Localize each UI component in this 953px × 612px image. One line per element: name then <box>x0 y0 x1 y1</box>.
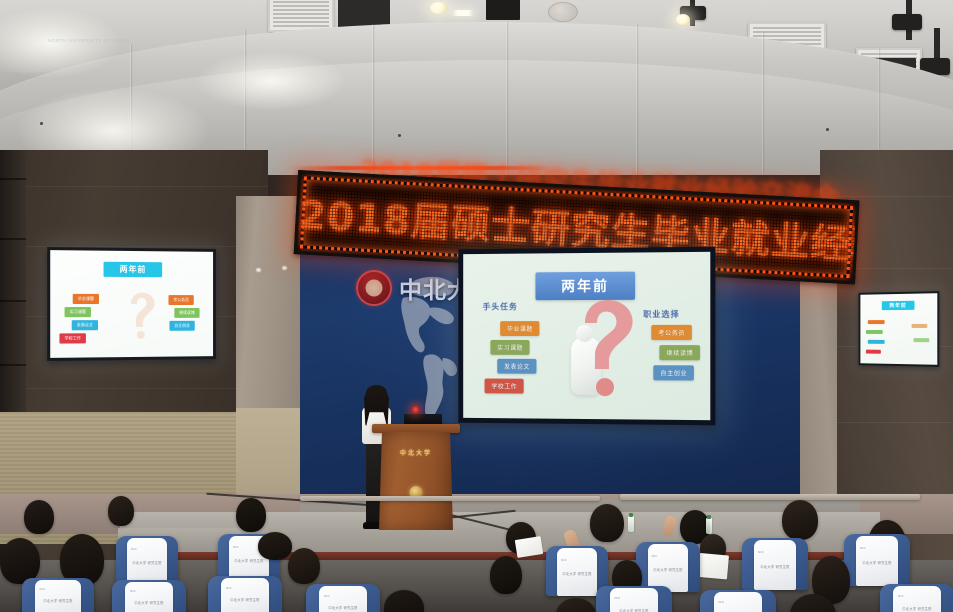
audience-seat[interactable]: NUC 中北大学 研究生院 <box>880 584 953 612</box>
side-monitor-right-screen: 两年前 <box>860 293 937 365</box>
audience-seat[interactable]: NUC 中北大学 研究生院 <box>596 586 672 612</box>
ceiling-seam <box>506 22 507 174</box>
audience-head <box>236 498 266 532</box>
ceiling-recess <box>486 0 520 20</box>
seat-text: 中北大学 研究生院 <box>893 606 940 611</box>
audience-seat[interactable]: NUC 中北大学 研究生院 <box>116 536 178 584</box>
seat-headrest-cover: NUC 中北大学 研究生院 <box>893 586 940 612</box>
tube-light-icon <box>452 10 474 16</box>
audience-head <box>258 532 292 560</box>
slide-canvas: 两年前 手头任务 职业选择 毕业课题 实习课题 发表论文 学校工作 考公务员 继… <box>463 252 710 420</box>
university-name-en: NORTH UNIVERSITY OF CHINA <box>48 38 130 43</box>
monitor-left-chip-2: 发表论文 <box>72 320 98 330</box>
seat-headrest-cover: NUC 中北大学 研究生院 <box>125 582 172 612</box>
audience-seat[interactable]: NUC 中北大学 研究生院 <box>700 590 776 612</box>
seat-logo: NUC <box>561 559 567 562</box>
seat-logo: NUC <box>615 597 621 600</box>
slide-right-heading: 职业选择 <box>643 309 679 320</box>
monitor-r-chip-b <box>866 330 883 334</box>
audience-head <box>556 598 596 612</box>
slide-chip-left-3: 学校工作 <box>485 379 525 394</box>
audience-head <box>490 556 522 594</box>
monitor-r-chip-a <box>868 320 885 324</box>
slide-chip-left-2: 发表论文 <box>497 359 537 374</box>
audience-seat[interactable]: NUC 中北大学 研究生院 <box>208 576 282 612</box>
seat-logo: NUC <box>860 547 866 550</box>
seat-logo: NUC <box>131 548 137 551</box>
side-monitor-left-screen: 两年前 毕业课题 实习课题 发表论文 学校工作 考公务员 继续读博 自主创业 <box>50 250 213 358</box>
audience-seat[interactable]: NUC 中北大学 研究生院 <box>636 542 700 592</box>
seat-logo: NUC <box>40 588 46 591</box>
monitor-right-chip-2: 自主创业 <box>169 321 194 331</box>
seat-headrest-cover: NUC 中北大学 研究生院 <box>221 578 268 612</box>
audience-head <box>288 548 320 584</box>
aisle-rail <box>300 496 600 501</box>
seat-headrest-cover: NUC 中北大学 研究生院 <box>714 592 763 612</box>
audience-seat[interactable]: NUC 中北大学 研究生院 <box>22 578 94 612</box>
audience-seat[interactable]: NUC 中北大学 研究生院 <box>742 538 808 590</box>
projection-screen: 两年前 手头任务 职业选择 毕业课题 实习课题 发表论文 学校工作 考公务员 继… <box>458 247 715 426</box>
seat-text: 中北大学 研究生院 <box>35 598 81 603</box>
monitor-right-title: 两年前 <box>882 301 915 310</box>
audience-seat[interactable]: NUC 中北大学 研究生院 <box>112 580 186 612</box>
water-bottle <box>706 518 712 534</box>
seat-headrest-cover: NUC 中北大学 研究生院 <box>856 536 898 586</box>
monitor-r-chip-d <box>866 350 881 354</box>
seat-headrest-cover: NUC 中北大学 研究生院 <box>127 538 167 584</box>
audience-head <box>590 504 624 542</box>
audience-area: NUC 中北大学 研究生院 NUC 中北大学 研究生院 NUC 中北大学 研究生… <box>0 494 953 612</box>
ceiling-speaker-icon <box>548 2 578 22</box>
seat-headrest-cover: NUC 中北大学 研究生院 <box>754 540 796 590</box>
seat-logo: NUC <box>130 590 136 593</box>
monitor-right-chip-1: 继续读博 <box>174 308 199 318</box>
slide-chip-right-1: 继续读博 <box>659 345 700 360</box>
seat-headrest-cover: NUC 中北大学 研究生院 <box>35 580 81 612</box>
ceiling <box>0 0 953 175</box>
monitor-left-chip-3: 学校工作 <box>59 333 85 343</box>
audience-head <box>108 496 134 526</box>
seat-text: 中北大学 研究生院 <box>610 608 659 612</box>
slide-left-heading: 手头任务 <box>483 301 518 312</box>
university-seal-icon <box>356 270 392 306</box>
seat-text: 中北大学 研究生院 <box>557 571 597 576</box>
ceiling-seam <box>372 24 373 174</box>
seat-text: 中北大学 研究生院 <box>856 560 898 565</box>
seat-headrest-cover: NUC 中北大学 研究生院 <box>557 548 597 596</box>
question-mark-graphic <box>565 293 647 404</box>
seat-logo: NUC <box>233 546 239 549</box>
slide-chip-left-1: 实习课题 <box>490 340 530 355</box>
spotlight-icon <box>892 14 922 30</box>
microphone-indicator-icon <box>412 406 419 413</box>
side-monitor-right: 两年前 <box>859 291 940 367</box>
audience-head <box>384 590 424 612</box>
ceiling-seam <box>762 32 763 174</box>
downlight-icon <box>430 2 447 14</box>
seat-logo: NUC <box>652 555 658 558</box>
seat-text: 中北大学 研究生院 <box>127 560 167 565</box>
led-ceiling-reflection <box>290 166 550 170</box>
ceiling-seam <box>636 24 637 174</box>
monitor-r-chip-c <box>868 340 885 344</box>
slide-chip-right-2: 自主创业 <box>653 365 694 380</box>
monitor-question-mark-icon <box>121 289 161 339</box>
audience-seat[interactable]: NUC 中北大学 研究生院 <box>306 584 380 612</box>
auditorium-scene: 中北大学 NORTH UNIVERSITY OF CHINA 2018届硕士研究… <box>0 0 953 612</box>
monitor-left-chip-1: 实习课题 <box>65 307 91 317</box>
ceiling-fitting <box>398 134 401 137</box>
slide-chip-right-0: 考公务员 <box>651 325 692 340</box>
monitor-r-chip-e <box>912 324 928 328</box>
audience-head <box>24 500 54 534</box>
monitor-right-chip-0: 考公务员 <box>168 295 193 305</box>
seat-text: 中北大学 研究生院 <box>648 567 689 572</box>
podium-top <box>372 424 460 433</box>
seat-headrest-cover: NUC 中北大学 研究生院 <box>319 586 366 612</box>
seat-logo: NUC <box>719 601 725 604</box>
seat-text: 中北大学 研究生院 <box>319 605 366 610</box>
monitor-left-title: 两年前 <box>104 262 163 277</box>
seat-text: 中北大学 研究生院 <box>229 558 269 563</box>
seat-text: 中北大学 研究生院 <box>754 564 796 569</box>
audience-head <box>782 500 818 540</box>
slide-chip-left-0: 毕业课题 <box>500 321 540 336</box>
ceiling-fitting <box>40 122 43 125</box>
downlight-icon <box>676 14 690 25</box>
audience-seat[interactable]: NUC 中北大学 研究生院 <box>844 534 910 586</box>
audience-arm <box>661 515 677 537</box>
ceiling-fitting <box>826 128 829 131</box>
seat-logo: NUC <box>898 595 904 598</box>
seat-text: 中北大学 研究生院 <box>221 597 268 602</box>
seat-headrest-cover: NUC 中北大学 研究生院 <box>610 588 659 612</box>
monitor-r-chip-f <box>914 338 930 342</box>
handout-paper <box>515 536 543 558</box>
monitor-left-chip-0: 毕业课题 <box>73 294 99 304</box>
podium-label: 中北大学 <box>379 448 453 457</box>
seat-text: 中北大学 研究生院 <box>125 600 172 605</box>
seat-logo: NUC <box>324 595 330 598</box>
side-monitor-left: 两年前 毕业课题 实习课题 发表论文 学校工作 考公务员 继续读博 自主创业 <box>47 247 216 361</box>
seat-logo: NUC <box>226 587 232 590</box>
aisle-rail <box>620 494 920 500</box>
seat-logo: NUC <box>758 551 764 554</box>
water-bottle <box>628 516 634 532</box>
seat-headrest-cover: NUC 中北大学 研究生院 <box>648 544 689 592</box>
